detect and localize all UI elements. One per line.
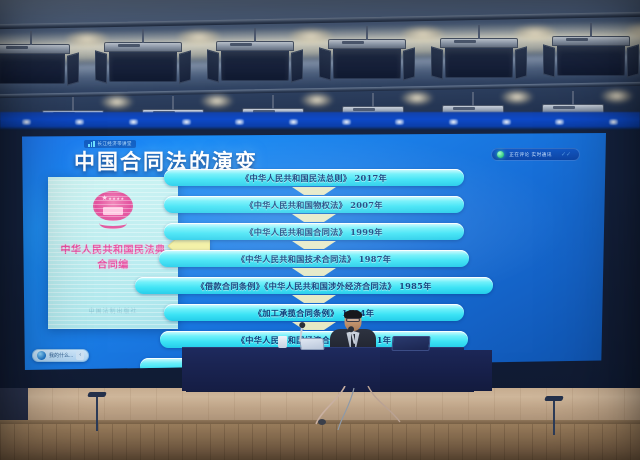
lamp-glow <box>100 94 134 110</box>
chevron-down-icon <box>22 322 606 330</box>
screenshot-root: 长江经济带讲堂 中国合同法的演变 正在评论 实时通讯 ✓✓ ★★★★★ 中华人民… <box>0 0 640 460</box>
wall-strip-light <box>75 119 84 125</box>
timeline-pill[interactable]: 《中华人民共和国合同法》 1999年 <box>164 223 464 240</box>
timeline-row[interactable]: 《中华人民共和国物权法》 2007年 <box>22 196 606 213</box>
wall-strip-light <box>182 119 191 125</box>
timeline-row[interactable]: 《中华人民共和国民法总则》 2017年 <box>22 169 606 186</box>
status-dot-icon <box>497 151 504 158</box>
chevron-down-icon <box>22 295 606 303</box>
wall-strip-light <box>555 119 564 125</box>
stage-lamp <box>328 39 406 79</box>
projection-screen[interactable]: 长江经济带讲堂 中国合同法的演变 正在评论 实时通讯 ✓✓ ★★★★★ 中华人民… <box>22 133 606 370</box>
wall-strip-light <box>609 119 618 125</box>
timeline-pill-label: 《中华人民共和国物权法》 2007年 <box>245 199 382 211</box>
lamp-glow <box>600 88 634 104</box>
glasses-icon <box>346 318 360 322</box>
stage-lamp <box>552 36 630 76</box>
check-icon: ✓✓ <box>561 151 571 158</box>
lamp-glow <box>200 93 234 109</box>
laptop-dark <box>391 336 430 351</box>
wall-strip-light <box>395 119 404 125</box>
stage-lamp <box>104 42 182 82</box>
laptop-light <box>299 338 324 350</box>
timeline-row[interactable]: 《中华人民共和国技术合同法》 1987年 <box>22 250 606 267</box>
wall-strip-light <box>289 119 298 125</box>
timeline-pill-label: 《中华人民共和国技术合同法》 1987年 <box>237 253 391 265</box>
status-badge-label: 正在评论 实时通讯 <box>509 152 552 158</box>
wall-strip-light <box>342 119 351 125</box>
wall-strip-light <box>502 119 511 125</box>
wall-strip-light <box>449 119 458 125</box>
timeline-pill-label: 《中华人民共和国合同法》 1999年 <box>245 226 382 238</box>
chevron-down-icon <box>22 241 606 249</box>
ceiling <box>0 0 640 128</box>
lamp-glow <box>300 92 334 108</box>
chevron-down-icon <box>22 214 606 222</box>
timeline-pill[interactable]: 《借款合同条例》《中华人民共和国涉外经济合同法》 1985年 <box>135 277 493 294</box>
wall-strip-light <box>129 119 138 125</box>
lamp-glow <box>400 90 434 106</box>
timeline-pill[interactable]: 《中华人民共和国民法总则》 2017年 <box>164 169 464 186</box>
floor-light-left <box>88 392 106 431</box>
lamp-glow <box>500 89 534 105</box>
timeline-pill[interactable]: 《中华人民共和国技术合同法》 1987年 <box>159 250 469 267</box>
timeline-pill-label: 《中华人民共和国民法总则》 2017年 <box>241 172 387 184</box>
stage-lamp <box>440 38 518 78</box>
timeline-pill[interactable]: 《中华人民共和国物权法》 2007年 <box>164 196 464 213</box>
status-badge[interactable]: 正在评论 实时通讯 ✓✓ <box>491 148 580 161</box>
timeline-pill[interactable]: 《加工承揽合同条例》 1984年 <box>164 304 464 321</box>
wall-strip-light <box>235 119 244 125</box>
timeline-row[interactable]: 《加工承揽合同条例》 1984年 <box>22 304 606 321</box>
floor-light-right <box>545 396 563 435</box>
timeline-pill-label: 《借款合同条例》《中华人民共和国涉外经济合同法》 1985年 <box>196 280 431 292</box>
wall-strip-lights <box>0 116 640 128</box>
timeline-row[interactable]: 《借款合同条例》《中华人民共和国涉外经济合同法》 1985年 <box>22 277 606 294</box>
timeline-row[interactable]: 《中华人民共和国合同法》 1999年 <box>22 223 606 240</box>
lamp-glow <box>288 27 334 45</box>
lamp-glow <box>64 30 110 48</box>
chevron-down-icon <box>22 268 606 276</box>
stage-lamp <box>216 41 294 81</box>
water-cup <box>278 336 287 348</box>
wall-strip-light <box>22 119 31 125</box>
chevron-down-icon <box>22 187 606 195</box>
lecture-desk-right <box>380 350 492 391</box>
floor-cables <box>250 386 410 434</box>
lamp-glow <box>512 24 558 42</box>
stage-lamp <box>0 44 70 84</box>
